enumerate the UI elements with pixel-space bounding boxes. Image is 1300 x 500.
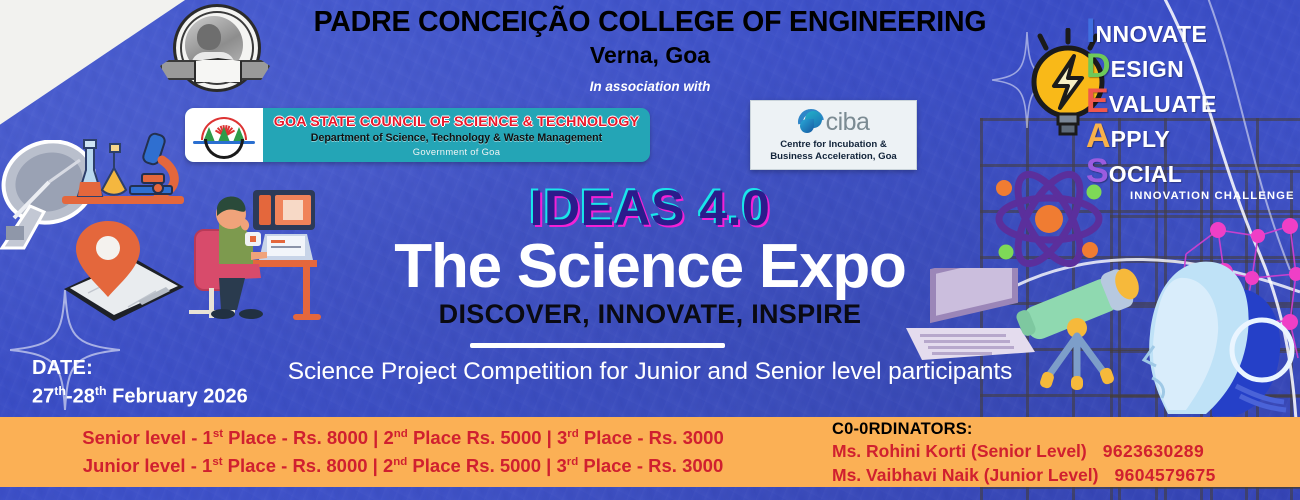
acronym-letter-e: E [1086,84,1109,118]
acronym-row-innovate: I NNOVATE [1086,14,1286,48]
acronym-word-evaluate: VALUATE [1109,93,1217,116]
gscst-title: GOA STATE COUNCIL OF SCIENCE & TECHNOLOG… [274,114,640,130]
acronym-row-apply: A PPLY [1086,119,1286,153]
event-date-block: DATE: 27th-28th February 2026 [32,357,248,409]
coordinator-phone-senior: 9623630289 [1103,441,1204,461]
ideas-acronym-block: I NNOVATE D ESIGN E VALUATE A PPLY S OCI… [1086,14,1286,202]
event-tagline: DISCOVER, INNOVATE, INSPIRE [0,299,1300,330]
gscst-partner-logo: GOA STATE COUNCIL OF SCIENCE & TECHNOLOG… [185,108,650,162]
acronym-row-evaluate: E VALUATE [1086,84,1286,118]
prize-banner: Senior level - 1st Place - Rs. 8000 | 2n… [0,417,806,487]
acronym-word-design: ESIGN [1111,58,1185,81]
gscst-government: Government of Goa [413,146,500,157]
title-divider [470,343,725,348]
coordinator-name-senior: Ms. Rohini Korti (Senior Level) [832,441,1087,461]
acronym-footer: INNOVATION CHALLENGE [1130,190,1286,202]
acronym-letter-s: S [1086,154,1109,188]
acronym-letter-a: A [1086,119,1111,153]
acronym-word-innovate: NNOVATE [1095,23,1207,46]
ciba-partner-logo: ciba Centre for Incubation & Business Ac… [750,100,917,170]
college-seal-logo [160,4,270,88]
date-value: 27th-28th February 2026 [32,384,248,409]
prize-row-senior: Senior level - 1st Place - Rs. 8000 | 2n… [82,424,724,452]
acronym-row-design: D ESIGN [1086,49,1286,83]
gscst-department: Department of Science, Technology & Wast… [311,132,602,144]
coordinator-phone-junior: 9604579675 [1114,465,1215,485]
acronym-row-social: S OCIAL [1086,154,1286,188]
coordinator-name-junior: Ms. Vaibhavi Naik (Junior Level) [832,465,1098,485]
ciba-swoosh-icon [798,109,824,135]
acronym-word-social: OCIAL [1109,163,1183,186]
gscst-text-block: GOA STATE COUNCIL OF SCIENCE & TECHNOLOG… [263,108,650,162]
ciba-wordmark-row: ciba [798,108,870,137]
coordinator-row-senior: Ms. Rohini Korti (Senior Level)962363028… [832,440,1300,463]
prize-row-junior: Junior level - 1st Place - Rs. 8000 | 2n… [83,452,724,480]
gscst-emblem-icon [185,108,263,162]
acronym-word-apply: PPLY [1111,128,1171,151]
coordinators-title: C0-0RDINATORS: [832,420,1300,439]
ciba-wordmark: ciba [826,108,870,137]
acronym-letter-d: D [1086,49,1111,83]
event-title: The Science Expo [0,231,1300,302]
coordinators-banner: C0-0RDINATORS: Ms. Rohini Korti (Senior … [806,417,1300,487]
event-poster: PADRE CONCEIÇÃO COLLEGE OF ENGINEERING V… [0,0,1300,500]
coordinator-row-junior: Ms. Vaibhavi Naik (Junior Level)96045796… [832,464,1300,487]
acronym-letter-i: I [1086,14,1095,48]
gscst-gear-icon [204,139,244,159]
date-label: DATE: [32,357,248,380]
ciba-subtitle-line2: Business Acceleration, Goa [770,151,897,163]
seal-open-book-icon [194,58,242,84]
ciba-subtitle-line1: Centre for Incubation & [780,139,887,151]
